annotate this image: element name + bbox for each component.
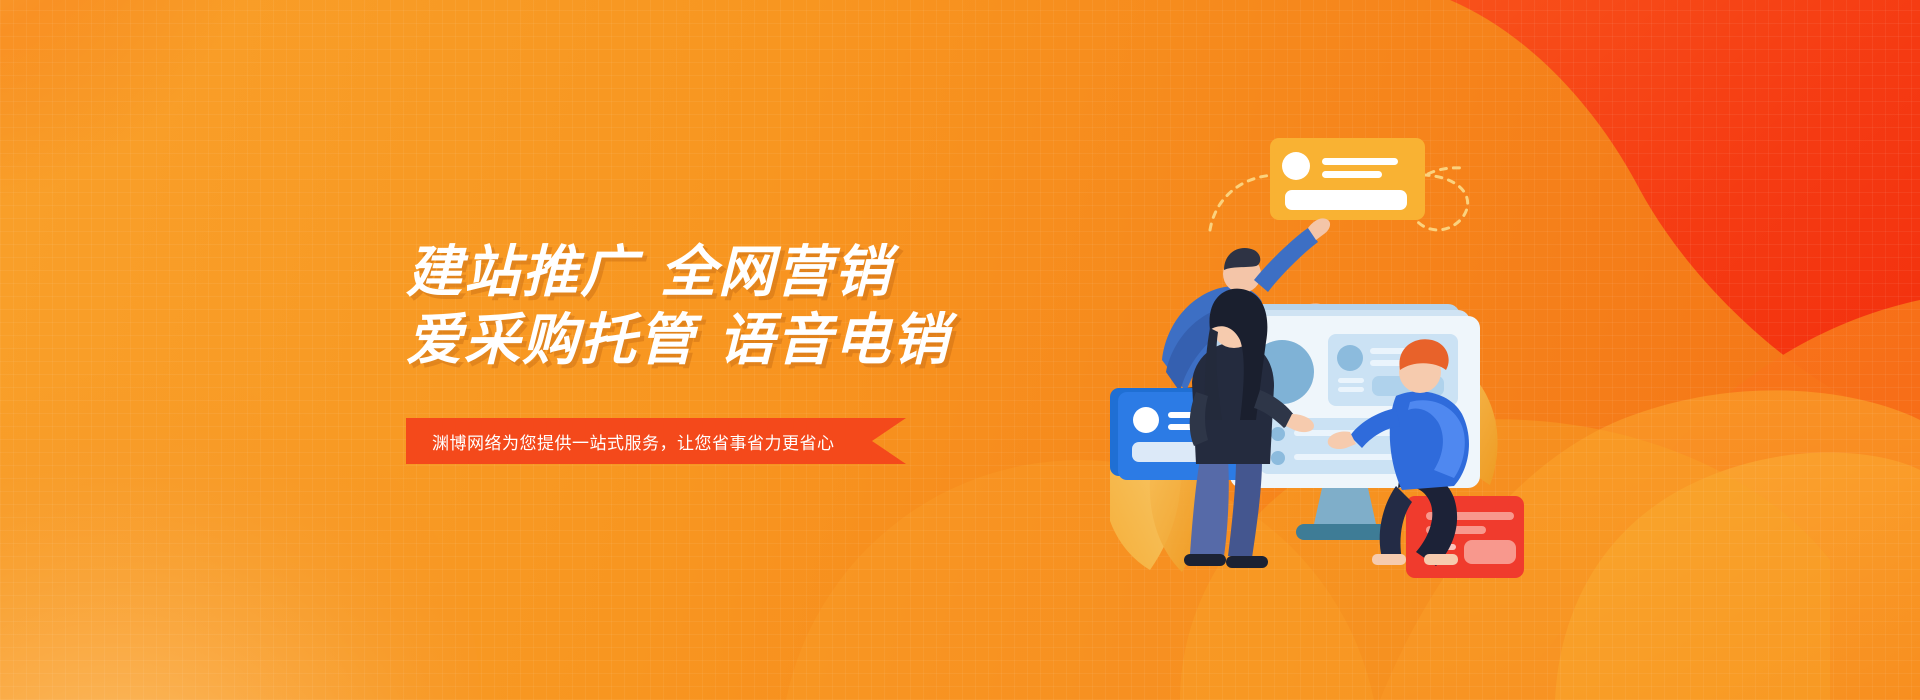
card-line	[1322, 171, 1382, 178]
monitor-bullet	[1271, 427, 1285, 441]
decor-glow-top-left	[0, 0, 350, 330]
headline-line1-part-b: 全网营销	[660, 240, 892, 303]
illustration-svg	[1110, 120, 1540, 620]
headline-line-1: 建站推广全网营销	[406, 238, 1046, 306]
monitor-stand	[1314, 488, 1376, 524]
card-avatar	[1133, 407, 1159, 433]
headline-line-2: 爱采购托管语音电销	[406, 306, 1046, 374]
card-red	[1406, 496, 1524, 578]
person-c-foot	[1424, 554, 1458, 565]
monitor-panel-avatar	[1337, 345, 1363, 371]
person-c-foot	[1372, 554, 1406, 565]
headline-line2-part-a: 爱采购托管	[406, 308, 696, 371]
card-line	[1322, 158, 1398, 165]
card-field	[1464, 540, 1516, 564]
headline-line2-part-b: 语音电销	[718, 308, 950, 371]
hero-illustration	[1110, 120, 1540, 620]
tagline-text: 渊博网络为您提供一站式服务，让您省事省力更省心	[406, 429, 835, 454]
person-b-shoe	[1184, 554, 1226, 566]
monitor-bullet	[1271, 451, 1285, 465]
headline-line1-part-a: 建站推广	[406, 240, 638, 303]
promo-banner: 建站推广全网营销 爱采购托管语音电销 渊博网络为您提供一站式服务，让您省事省力更…	[0, 0, 1920, 700]
person-b-shoe	[1226, 556, 1268, 568]
tagline-ribbon: 渊博网络为您提供一站式服务，让您省事省力更省心	[406, 418, 906, 464]
person-a-arm-upper	[1254, 228, 1318, 292]
card-avatar	[1282, 152, 1310, 180]
card-field	[1285, 190, 1407, 210]
headline-block: 建站推广全网营销 爱采购托管语音电销	[406, 238, 1046, 374]
monitor-line	[1338, 378, 1364, 383]
monitor-line	[1338, 387, 1364, 392]
